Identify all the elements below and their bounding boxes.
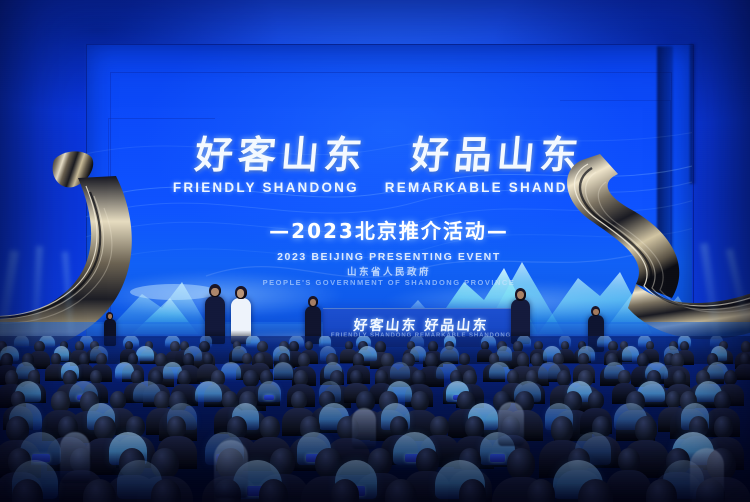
- audience-member: [5, 370, 19, 386]
- audience-member: [94, 416, 116, 440]
- audience-member: [243, 370, 258, 387]
- chair-cover: [273, 362, 293, 380]
- audience-shoulders: [606, 470, 651, 502]
- audience-member: [673, 370, 686, 385]
- audience-member: [79, 353, 89, 364]
- gold-ribbon-right: [540, 70, 750, 342]
- audience-member: [110, 391, 126, 409]
- audience-member: [289, 341, 299, 352]
- audience-member: [671, 353, 684, 367]
- audience-member-light: [60, 432, 90, 483]
- audience-member: [724, 370, 737, 385]
- audience-member: [428, 341, 438, 352]
- audience-member: [618, 370, 630, 384]
- audience-member: [740, 353, 750, 364]
- stage-event-photo: 好客山东 好品山东 FRIENDLY SHANDONG REMARKABLE S…: [0, 0, 750, 502]
- audience-member: [242, 353, 252, 364]
- chair-cover: [497, 346, 512, 361]
- audience-member: [298, 353, 310, 366]
- chair-seat-tag: [264, 395, 274, 400]
- chair-cover: [136, 346, 154, 361]
- audience-member: [167, 416, 186, 438]
- stage-person: [205, 284, 225, 344]
- audience-member: [618, 448, 640, 473]
- audience-member: [588, 391, 604, 409]
- audience-member: [412, 370, 426, 385]
- audience-member: [714, 391, 731, 410]
- audience-member: [259, 479, 288, 502]
- chair-cover: [319, 336, 331, 347]
- audience-member: [154, 391, 170, 409]
- audience-member: [260, 416, 280, 439]
- audience-member: [294, 370, 308, 385]
- audience-member: [291, 391, 307, 409]
- audience-member: [714, 416, 734, 438]
- audience-member: [51, 391, 70, 412]
- audience-member: [375, 370, 388, 384]
- audience-member: [527, 479, 555, 502]
- audience-member: [350, 370, 362, 384]
- audience-member: [465, 416, 484, 438]
- podium-banner-chinese: 好客山东 好品山东: [323, 315, 519, 335]
- audience-crowd: [0, 336, 750, 502]
- audience-member: [430, 416, 449, 437]
- audience-member: [507, 448, 535, 480]
- audience-member: [375, 341, 386, 353]
- chair-cover: [440, 346, 459, 361]
- chair-cover: [390, 362, 410, 380]
- audience-member: [459, 353, 470, 365]
- person-head: [106, 312, 113, 320]
- chair-cover: [14, 336, 28, 347]
- person-head: [308, 296, 318, 307]
- chair-seat-tag: [490, 454, 505, 462]
- audience-member-light: [352, 408, 376, 449]
- audience-member: [741, 341, 750, 353]
- chair-cover: [195, 381, 222, 403]
- audience-member: [183, 353, 194, 365]
- audience-member-light: [214, 440, 248, 498]
- audience-shoulders: [735, 364, 750, 381]
- audience-member: [305, 341, 314, 351]
- person-head: [515, 288, 526, 301]
- audience-member: [557, 370, 571, 386]
- audience-member: [551, 416, 574, 441]
- audience-member: [416, 448, 439, 474]
- person-head: [235, 286, 247, 299]
- audience-member: [666, 391, 681, 408]
- gold-ribbon-left: [0, 74, 230, 346]
- audience-member: [507, 370, 519, 384]
- audience-member: [257, 341, 267, 353]
- audience-member: [411, 391, 429, 411]
- audience-member: [178, 370, 191, 385]
- audience-member: [90, 370, 102, 384]
- audience-member: [635, 416, 658, 441]
- audience-member-light: [690, 448, 724, 502]
- audience-member-light: [498, 402, 524, 446]
- person-head: [209, 284, 221, 297]
